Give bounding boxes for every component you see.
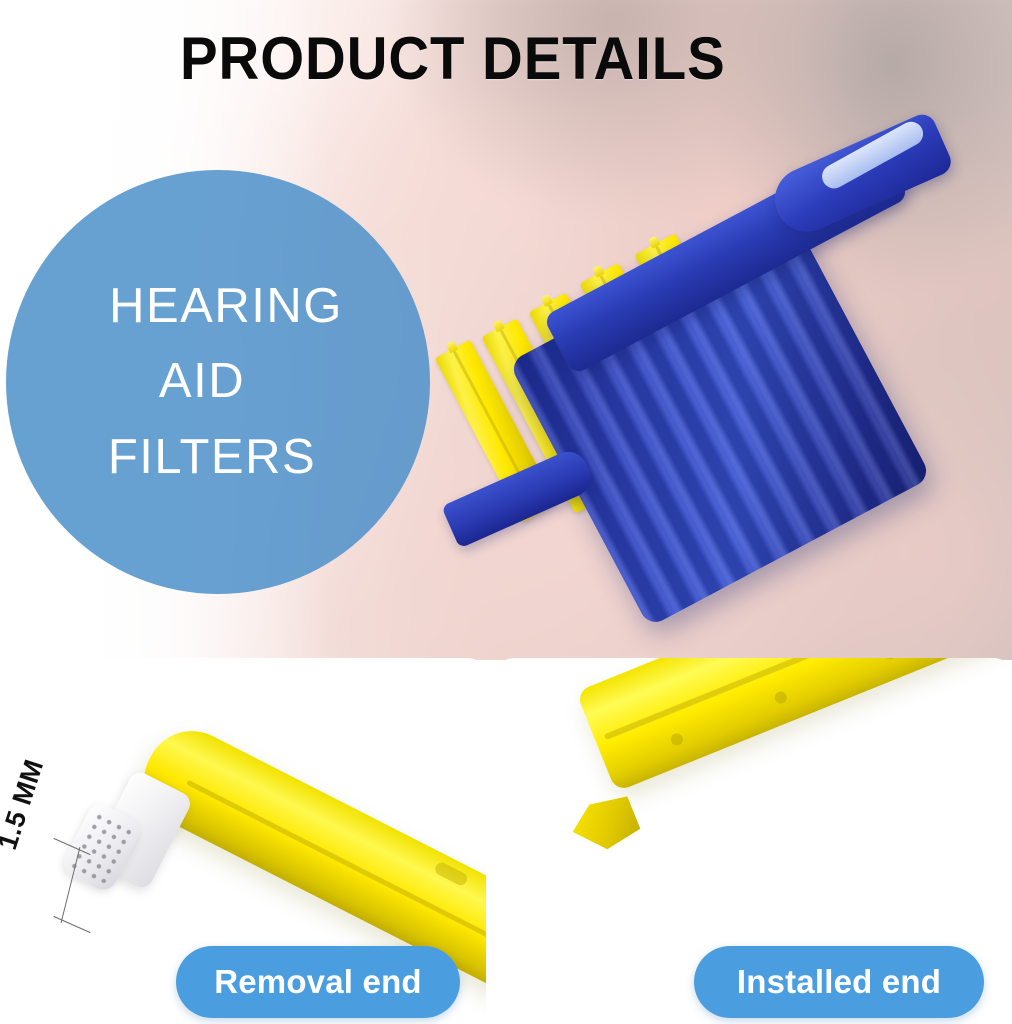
badge-line-3: FILTERS: [108, 423, 316, 493]
label-removal-end: Removal end: [176, 946, 460, 1018]
filter-nub: [647, 236, 660, 249]
filter-clip-tip: [564, 786, 644, 862]
dimension-label: 1.5 MM: [0, 756, 50, 854]
page-title: PRODUCT DETAILS: [180, 24, 744, 93]
tool-dot: [882, 658, 898, 661]
tool-dot: [669, 732, 685, 748]
product-details-image: HEARING AID FILTERS PRODUCT DETAILS 1.5 …: [0, 0, 1012, 1024]
hero-section: HEARING AID FILTERS PRODUCT DETAILS: [0, 0, 1012, 660]
filter-nub: [540, 294, 553, 307]
product-photo: [440, 120, 1000, 650]
label-installed-end: Installed end: [694, 946, 984, 1018]
hearing-aid-filters-badge: HEARING AID FILTERS: [6, 170, 430, 594]
filter-nub: [592, 265, 605, 278]
filter-tool-installed-end: [576, 658, 1012, 792]
label-installed-end-text: Installed end: [737, 963, 941, 1001]
badge-line-1: HEARING: [109, 272, 343, 342]
badge-line-2: AID: [159, 347, 245, 417]
tool-side-notch: [433, 860, 469, 887]
filter-nub: [492, 319, 505, 332]
filter-nub: [445, 341, 458, 354]
tool-dot: [773, 690, 789, 706]
label-removal-end-text: Removal end: [214, 963, 422, 1001]
dimension-cap-bottom: [54, 916, 91, 933]
